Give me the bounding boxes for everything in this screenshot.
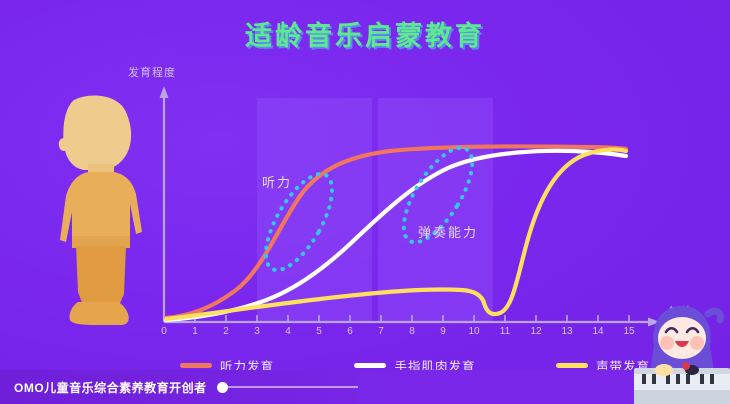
footer-divider-line [228,386,358,388]
x-tick-12: 12 [528,326,544,337]
x-tick-6: 6 [344,326,356,337]
x-tick-3: 3 [251,326,263,337]
x-tick-8: 8 [406,326,418,337]
highlight-band-1 [257,98,372,322]
footer-bullet-icon [217,382,228,393]
legend-swatch-hearing [180,363,212,368]
x-tick-10: 10 [466,326,482,337]
x-tick-1: 1 [189,326,201,337]
legend-swatch-finger [354,363,386,368]
x-tick-14: 14 [590,326,606,337]
annotation-label-playing: 弹奏能力 [418,222,478,241]
slide-canvas: 适龄音乐启蒙教育 [0,0,730,404]
x-tick-13: 13 [559,326,575,337]
development-line-chart [0,0,730,404]
x-tick-11: 11 [497,326,513,337]
footer-bar: OMO儿童音乐综合素养教育开创者 [0,370,730,404]
x-tick-0: 0 [158,326,170,337]
y-axis-label: 发育程度 [128,64,176,80]
y-axis [160,86,169,322]
x-axis [164,315,660,327]
mascot-illustration [634,294,730,404]
x-tick-5: 5 [313,326,325,337]
x-tick-4: 4 [282,326,294,337]
x-tick-7: 7 [375,326,387,337]
x-axis-tick-labels: 0 1 2 3 4 5 6 7 8 9 10 11 12 13 14 15 [0,326,730,342]
legend-swatch-vocal [556,363,588,368]
x-tick-9: 9 [437,326,449,337]
x-tick-2: 2 [220,326,232,337]
annotation-label-hearing: 听力 [262,172,292,191]
footer-brand-text: OMO儿童音乐综合素养教育开创者 [14,379,207,396]
